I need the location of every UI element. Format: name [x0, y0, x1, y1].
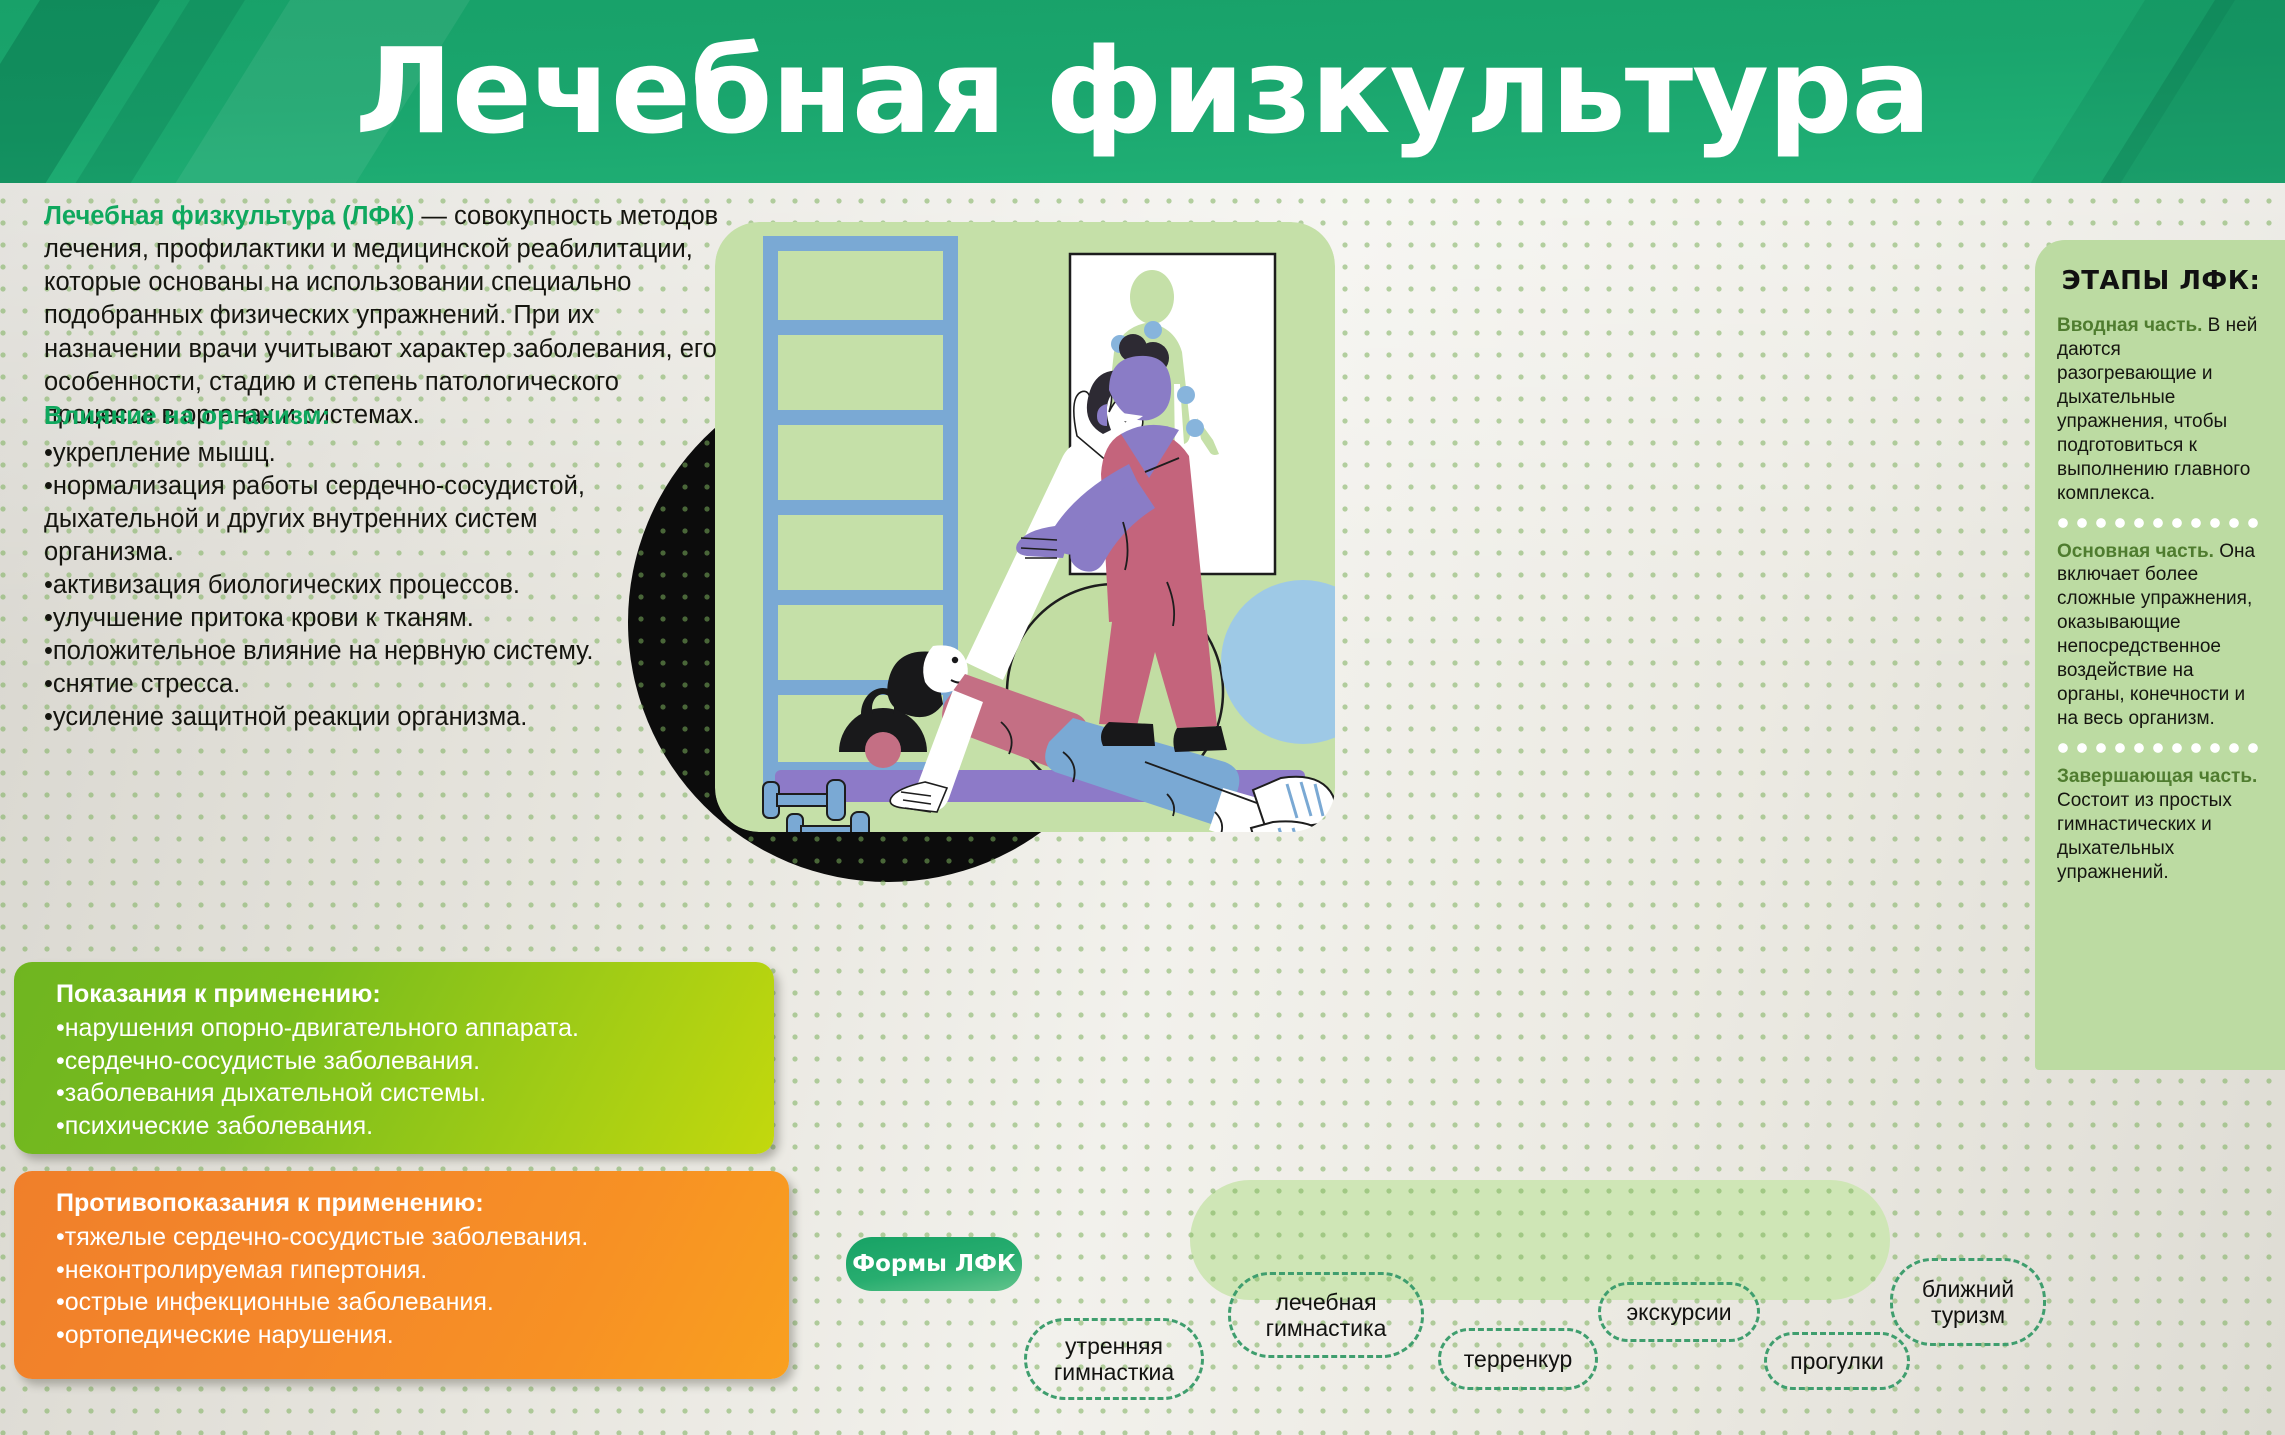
list-item: •положительное влияние на нервную систем…	[44, 635, 604, 668]
dotted-divider	[2057, 517, 2265, 530]
contraindications-card: Противопоказания к применению: •тяжелые …	[14, 1171, 789, 1379]
effects-list: •укрепление мышц. •нормализация работы с…	[44, 437, 604, 734]
effects-heading: Влияние на организм:	[44, 400, 330, 431]
stage-text: В ней даются разогревающие и дыхательные…	[2057, 315, 2257, 504]
stage-text: Она включает более сложные упражнения, о…	[2057, 541, 2255, 730]
stage-section-intro: Вводная часть. В ней даются разогревающи…	[2057, 314, 2265, 506]
list-item: •тяжелые сердечно-сосудистые заболевания…	[56, 1221, 789, 1254]
list-item: •психические заболевания.	[56, 1110, 774, 1143]
stage-section-final: Завершающая часть. Состоит из простых ги…	[2057, 765, 2265, 885]
indications-card: Показания к применению: •нарушения опорн…	[14, 962, 774, 1154]
list-item: •неконтролируемая гипертония.	[56, 1254, 789, 1287]
intro-paragraph: Лечебная физкультура (ЛФК) — совокупност…	[44, 200, 734, 432]
form-bubble-terrenkur[interactable]: терренкур	[1438, 1328, 1598, 1390]
list-item: •улучшение притока крови к тканям.	[44, 602, 604, 635]
list-item: •снятие стресса.	[44, 668, 604, 701]
stage-lead: Основная часть.	[2057, 541, 2214, 562]
list-item: •заболевания дыхательной системы.	[56, 1077, 774, 1110]
list-item: •ортопедические нарушения.	[56, 1319, 789, 1352]
list-item: •сердечно-сосудистые заболевания.	[56, 1045, 774, 1078]
stage-section-main: Основная часть. Она включает более сложн…	[2057, 540, 2265, 732]
page-header: Лечебная физкультура	[0, 0, 2285, 183]
form-bubble-walks[interactable]: прогулки	[1764, 1332, 1910, 1390]
indications-title: Показания к применению:	[56, 980, 774, 1009]
page-title: Лечебная физкультура	[0, 0, 2285, 183]
stages-title: ЭТАПЫ ЛФК:	[2057, 266, 2265, 296]
list-item: •нормализация работы сердечно-сосудистой…	[44, 470, 604, 569]
dotted-divider	[2057, 742, 2265, 755]
list-item: •активизация биологических процессов.	[44, 569, 604, 602]
form-bubble-therapeutic[interactable]: лечебная гимнастика	[1228, 1272, 1424, 1358]
contraindications-title: Противопоказания к применению:	[56, 1189, 789, 1218]
list-item: •нарушения опорно-двигательного аппарата…	[56, 1012, 774, 1045]
form-bubble-tourism[interactable]: ближний туризм	[1890, 1258, 2046, 1346]
stage-lead: Завершающая часть.	[2057, 766, 2257, 787]
intro-lead-term: Лечебная физкультура (ЛФК)	[44, 202, 414, 230]
list-item: •острые инфекционные заболевания.	[56, 1286, 789, 1319]
list-item: •усиление защитной реакции организма.	[44, 701, 604, 734]
form-bubble-morning[interactable]: утренняя гимнасткиа	[1024, 1318, 1204, 1400]
stage-lead: Вводная часть.	[2057, 315, 2202, 336]
form-bubble-excursions[interactable]: экскурсии	[1598, 1282, 1760, 1342]
therapy-illustration	[715, 222, 1335, 832]
forms-badge: Формы ЛФК	[846, 1237, 1022, 1291]
list-item: •укрепление мышц.	[44, 437, 604, 470]
stages-sidebar: ЭТАПЫ ЛФК: Вводная часть. В ней даются р…	[2035, 240, 2285, 1070]
stage-text: Состоит из простых гимнастических и дыха…	[2057, 790, 2232, 883]
intro-rest-text: — совокупность методов лечения, профилак…	[44, 202, 718, 429]
